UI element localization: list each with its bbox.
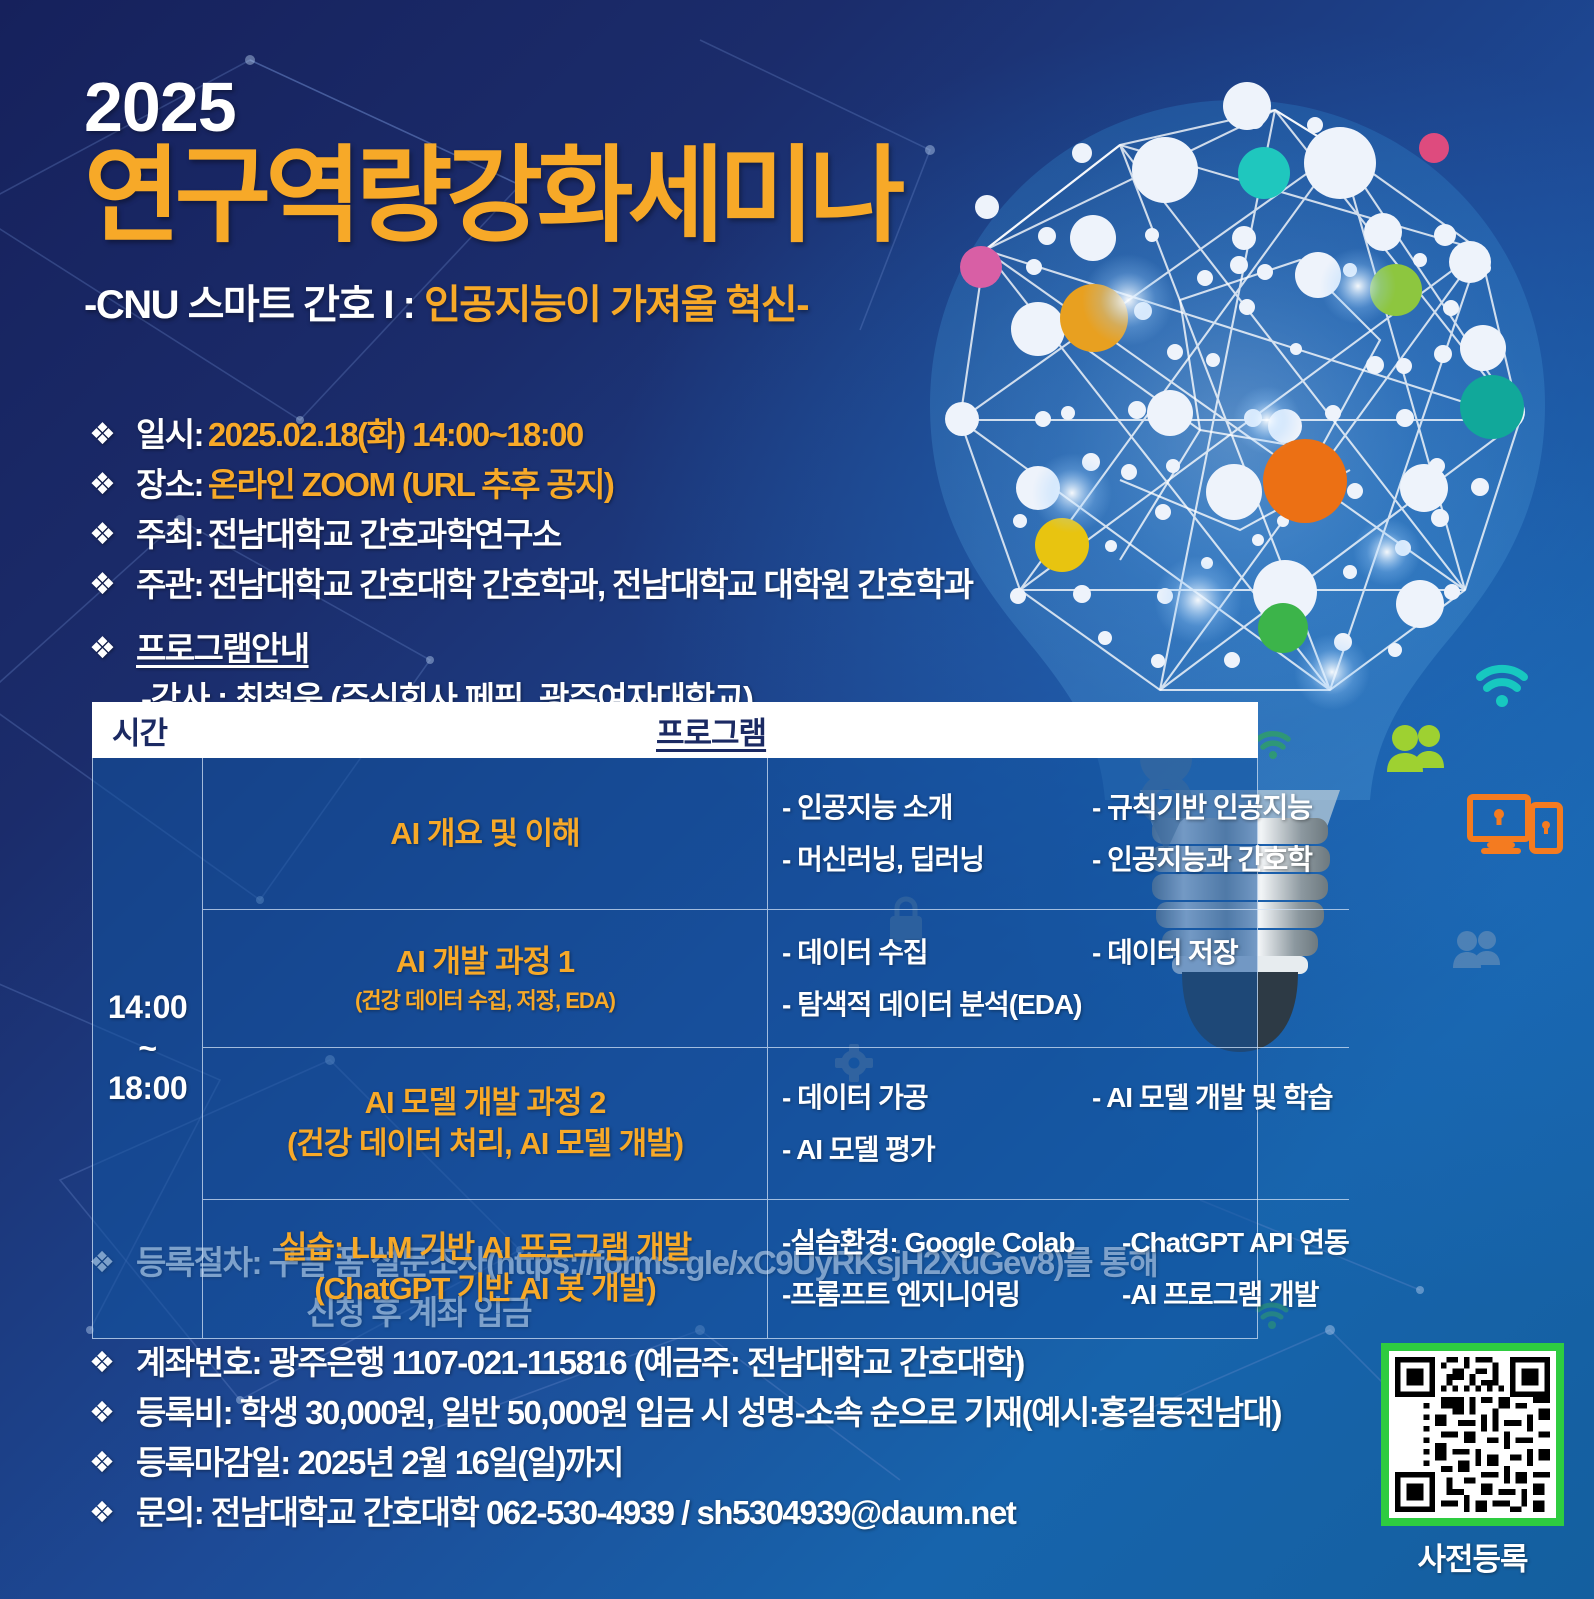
diamond-bullet-icon: ❖: [84, 1388, 136, 1438]
topic-title: AI 모델 개발 과정 2: [365, 1083, 606, 1122]
program-items-cell: - 데이터 가공 - AI 모델 개발 및 학습 - AI 모델 평가: [768, 1048, 1349, 1199]
pre-registration-qr-block[interactable]: 사전등록: [1381, 1343, 1564, 1579]
page-title: 연구역량강화세미나: [84, 138, 899, 256]
program-item: - 탐색적 데이터 분석(EDA): [782, 988, 1082, 1022]
contact-text: 문의: 전남대학교 간호대학 062-530-4939 / sh5304939@…: [136, 1488, 1015, 1538]
topic-cell: 실습: LLM 기반 AI 프로그램 개발 (ChatGPT 기반 AI 봇 개…: [203, 1200, 768, 1338]
table-row: AI 개요 및 이해 - 인공지능 소개 - 규칙기반 인공지능 - 머신러닝,…: [203, 758, 1349, 910]
diamond-bullet-icon: ❖: [84, 1438, 136, 1488]
time-range-cell: 14:00 ~ 18:00: [93, 758, 203, 1338]
table-body: 14:00 ~ 18:00 AI 개요 및 이해 - 인공지능 소개 - 규칙기…: [92, 758, 1258, 1339]
program-item-line: -프롬프트 엔지니어링 -AI 프로그램 개발: [782, 1269, 1349, 1321]
footer-row-deadline: ❖ 등록마감일: 2025년 2월 16일(일)까지: [84, 1438, 1464, 1488]
qr-code-icon[interactable]: [1381, 1343, 1564, 1526]
program-item: -프롬프트 엔지니어링: [782, 1278, 1122, 1312]
schedule-table: 시간 프로그램 14:00 ~ 18:00 AI 개요 및 이해 - 인공지능 …: [92, 702, 1258, 1339]
poster-header: 2025 연구역량강화세미나 -CNU 스마트 간호 I : 인공지능이 가져올…: [84, 72, 899, 330]
info-value-host: 전남대학교 간호과학연구소: [203, 512, 561, 558]
table-row: AI 개발 과정 1 (건강 데이터 수집, 저장, EDA) - 데이터 수집…: [203, 910, 1349, 1048]
topic-title: AI 개요 및 이해: [390, 814, 579, 853]
diamond-bullet-icon: ❖: [84, 562, 136, 608]
program-item-line: - AI 모델 평가: [782, 1124, 1349, 1176]
time-start: 14:00: [108, 987, 187, 1028]
program-item: - 인공지능 소개: [782, 791, 1092, 825]
topic-subtitle: (건강 데이터 수집, 저장, EDA): [355, 987, 615, 1016]
people-icon: [1387, 725, 1444, 772]
table-rows: AI 개요 및 이해 - 인공지능 소개 - 규칙기반 인공지능 - 머신러닝,…: [203, 758, 1349, 1338]
registration-deadline-text: 등록마감일: 2025년 2월 16일(일)까지: [136, 1438, 623, 1488]
program-item: -실습환경: Google Colab: [782, 1226, 1122, 1260]
year-label: 2025: [84, 72, 899, 142]
program-item-line: - 인공지능 소개 - 규칙기반 인공지능: [782, 782, 1349, 834]
account-number-text: 계좌번호: 광주은행 1107-021-115816 (예금주: 전남대학교 간…: [136, 1338, 1024, 1388]
program-item: - 데이터 수집: [782, 936, 1092, 970]
info-value-date: 2025.02.18(화) 14:00~18:00: [203, 412, 583, 458]
diamond-bullet-icon: ❖: [84, 412, 136, 458]
program-item: - 인공지능과 간호학: [1092, 843, 1349, 877]
program-item: - 머신러닝, 딥러닝: [782, 843, 1092, 877]
people-faded-icon: [1453, 931, 1500, 968]
info-row-venue: ❖ 장소: 온라인 ZOOM (URL 추후 공지): [84, 462, 1084, 508]
program-item: - AI 모델 개발 및 학습: [1092, 1081, 1349, 1115]
footer-row-fee: ❖ 등록비: 학생 30,000원, 일반 50,000원 입금 시 성명-소속…: [84, 1388, 1464, 1438]
program-items-cell: - 데이터 수집 - 데이터 저장 - 탐색적 데이터 분석(EDA): [768, 910, 1349, 1047]
program-item: - 데이터 저장: [1092, 936, 1349, 970]
subtitle-accent: 인공지능이 가져올 혁신-: [424, 283, 808, 327]
topic-cell: AI 모델 개발 과정 2 (건강 데이터 처리, AI 모델 개발): [203, 1048, 768, 1199]
diamond-bullet-icon: ❖: [84, 462, 136, 508]
program-items-cell: -실습환경: Google Colab -ChatGPT API 연동 -프롬프…: [768, 1200, 1349, 1338]
table-row: AI 모델 개발 과정 2 (건강 데이터 처리, AI 모델 개발) - 데이…: [203, 1048, 1349, 1200]
subtitle: -CNU 스마트 간호 I : 인공지능이 가져올 혁신-: [84, 272, 899, 330]
info-row-program-heading: ❖ 프로그램안내: [84, 626, 1084, 672]
topic-subtitle: (건강 데이터 처리, AI 모델 개발): [287, 1124, 683, 1164]
column-header-time: 시간: [92, 708, 200, 753]
registration-fee-text: 등록비: 학생 30,000원, 일반 50,000원 입금 시 성명-소속 순…: [136, 1388, 1281, 1438]
program-item: -AI 프로그램 개발: [1122, 1278, 1349, 1312]
qr-caption: 사전등록: [1381, 1534, 1564, 1579]
program-item-line: -실습환경: Google Colab -ChatGPT API 연동: [782, 1217, 1349, 1269]
diamond-bullet-icon: ❖: [84, 626, 136, 672]
info-row-date: ❖ 일시: 2025.02.18(화) 14:00~18:00: [84, 412, 1084, 458]
info-label-host: 주최:: [136, 512, 203, 558]
wifi-green-icon: [1258, 734, 1288, 759]
program-item: - 규칙기반 인공지능: [1092, 791, 1349, 825]
info-label-organizer: 주관:: [136, 562, 203, 608]
table-header-row: 시간 프로그램: [92, 702, 1258, 758]
program-item-line: - 데이터 가공 - AI 모델 개발 및 학습: [782, 1072, 1349, 1124]
wifi-icon: [1480, 669, 1524, 707]
devices-lock-icon: [1470, 797, 1560, 851]
poster-root: 2025 연구역량강화세미나 -CNU 스마트 간호 I : 인공지능이 가져올…: [0, 0, 1594, 1599]
footer-row-contact: ❖ 문의: 전남대학교 간호대학 062-530-4939 / sh530493…: [84, 1488, 1464, 1538]
program-item-line: - 탐색적 데이터 분석(EDA): [782, 979, 1349, 1031]
topic-title: 실습: LLM 기반 AI 프로그램 개발: [279, 1228, 691, 1267]
topic-title: AI 개발 과정 1: [396, 942, 574, 981]
info-value-organizer: 전남대학교 간호대학 간호학과, 전남대학교 대학원 간호학과: [203, 562, 972, 608]
subtitle-prefix: -CNU 스마트 간호 I :: [84, 283, 424, 327]
footer-row-account: ❖ 계좌번호: 광주은행 1107-021-115816 (예금주: 전남대학교…: [84, 1338, 1464, 1388]
diamond-bullet-icon: ❖: [84, 1488, 136, 1538]
info-label-venue: 장소:: [136, 462, 203, 508]
program-item: -ChatGPT API 연동: [1122, 1226, 1349, 1260]
info-label-date: 일시:: [136, 412, 203, 458]
table-row: 실습: LLM 기반 AI 프로그램 개발 (ChatGPT 기반 AI 봇 개…: [203, 1200, 1349, 1338]
topic-subtitle: (ChatGPT 기반 AI 봇 개발): [314, 1269, 655, 1309]
program-heading: 프로그램안내: [136, 626, 309, 672]
time-end: 18:00: [108, 1068, 187, 1109]
topic-cell: AI 개발 과정 1 (건강 데이터 수집, 저장, EDA): [203, 910, 768, 1047]
info-row-host: ❖ 주최: 전남대학교 간호과학연구소: [84, 512, 1084, 558]
program-item: - AI 모델 평가: [782, 1133, 935, 1167]
info-row-organizer: ❖ 주관: 전남대학교 간호대학 간호학과, 전남대학교 대학원 간호학과: [84, 562, 1084, 608]
column-header-program: 프로그램: [200, 708, 1258, 753]
program-items-cell: - 인공지능 소개 - 규칙기반 인공지능 - 머신러닝, 딥러닝 - 인공지능…: [768, 758, 1349, 909]
time-separator: ~: [138, 1028, 156, 1069]
program-item-line: - 머신러닝, 딥러닝 - 인공지능과 간호학: [782, 834, 1349, 886]
program-item: - 데이터 가공: [782, 1081, 1092, 1115]
topic-cell: AI 개요 및 이해: [203, 758, 768, 909]
diamond-bullet-icon: ❖: [84, 1338, 136, 1388]
info-value-venue: 온라인 ZOOM (URL 추후 공지): [203, 462, 613, 508]
program-item-line: - 데이터 수집 - 데이터 저장: [782, 927, 1349, 979]
event-info-list: ❖ 일시: 2025.02.18(화) 14:00~18:00 ❖ 장소: 온라…: [84, 412, 1084, 722]
diamond-bullet-icon: ❖: [84, 512, 136, 558]
